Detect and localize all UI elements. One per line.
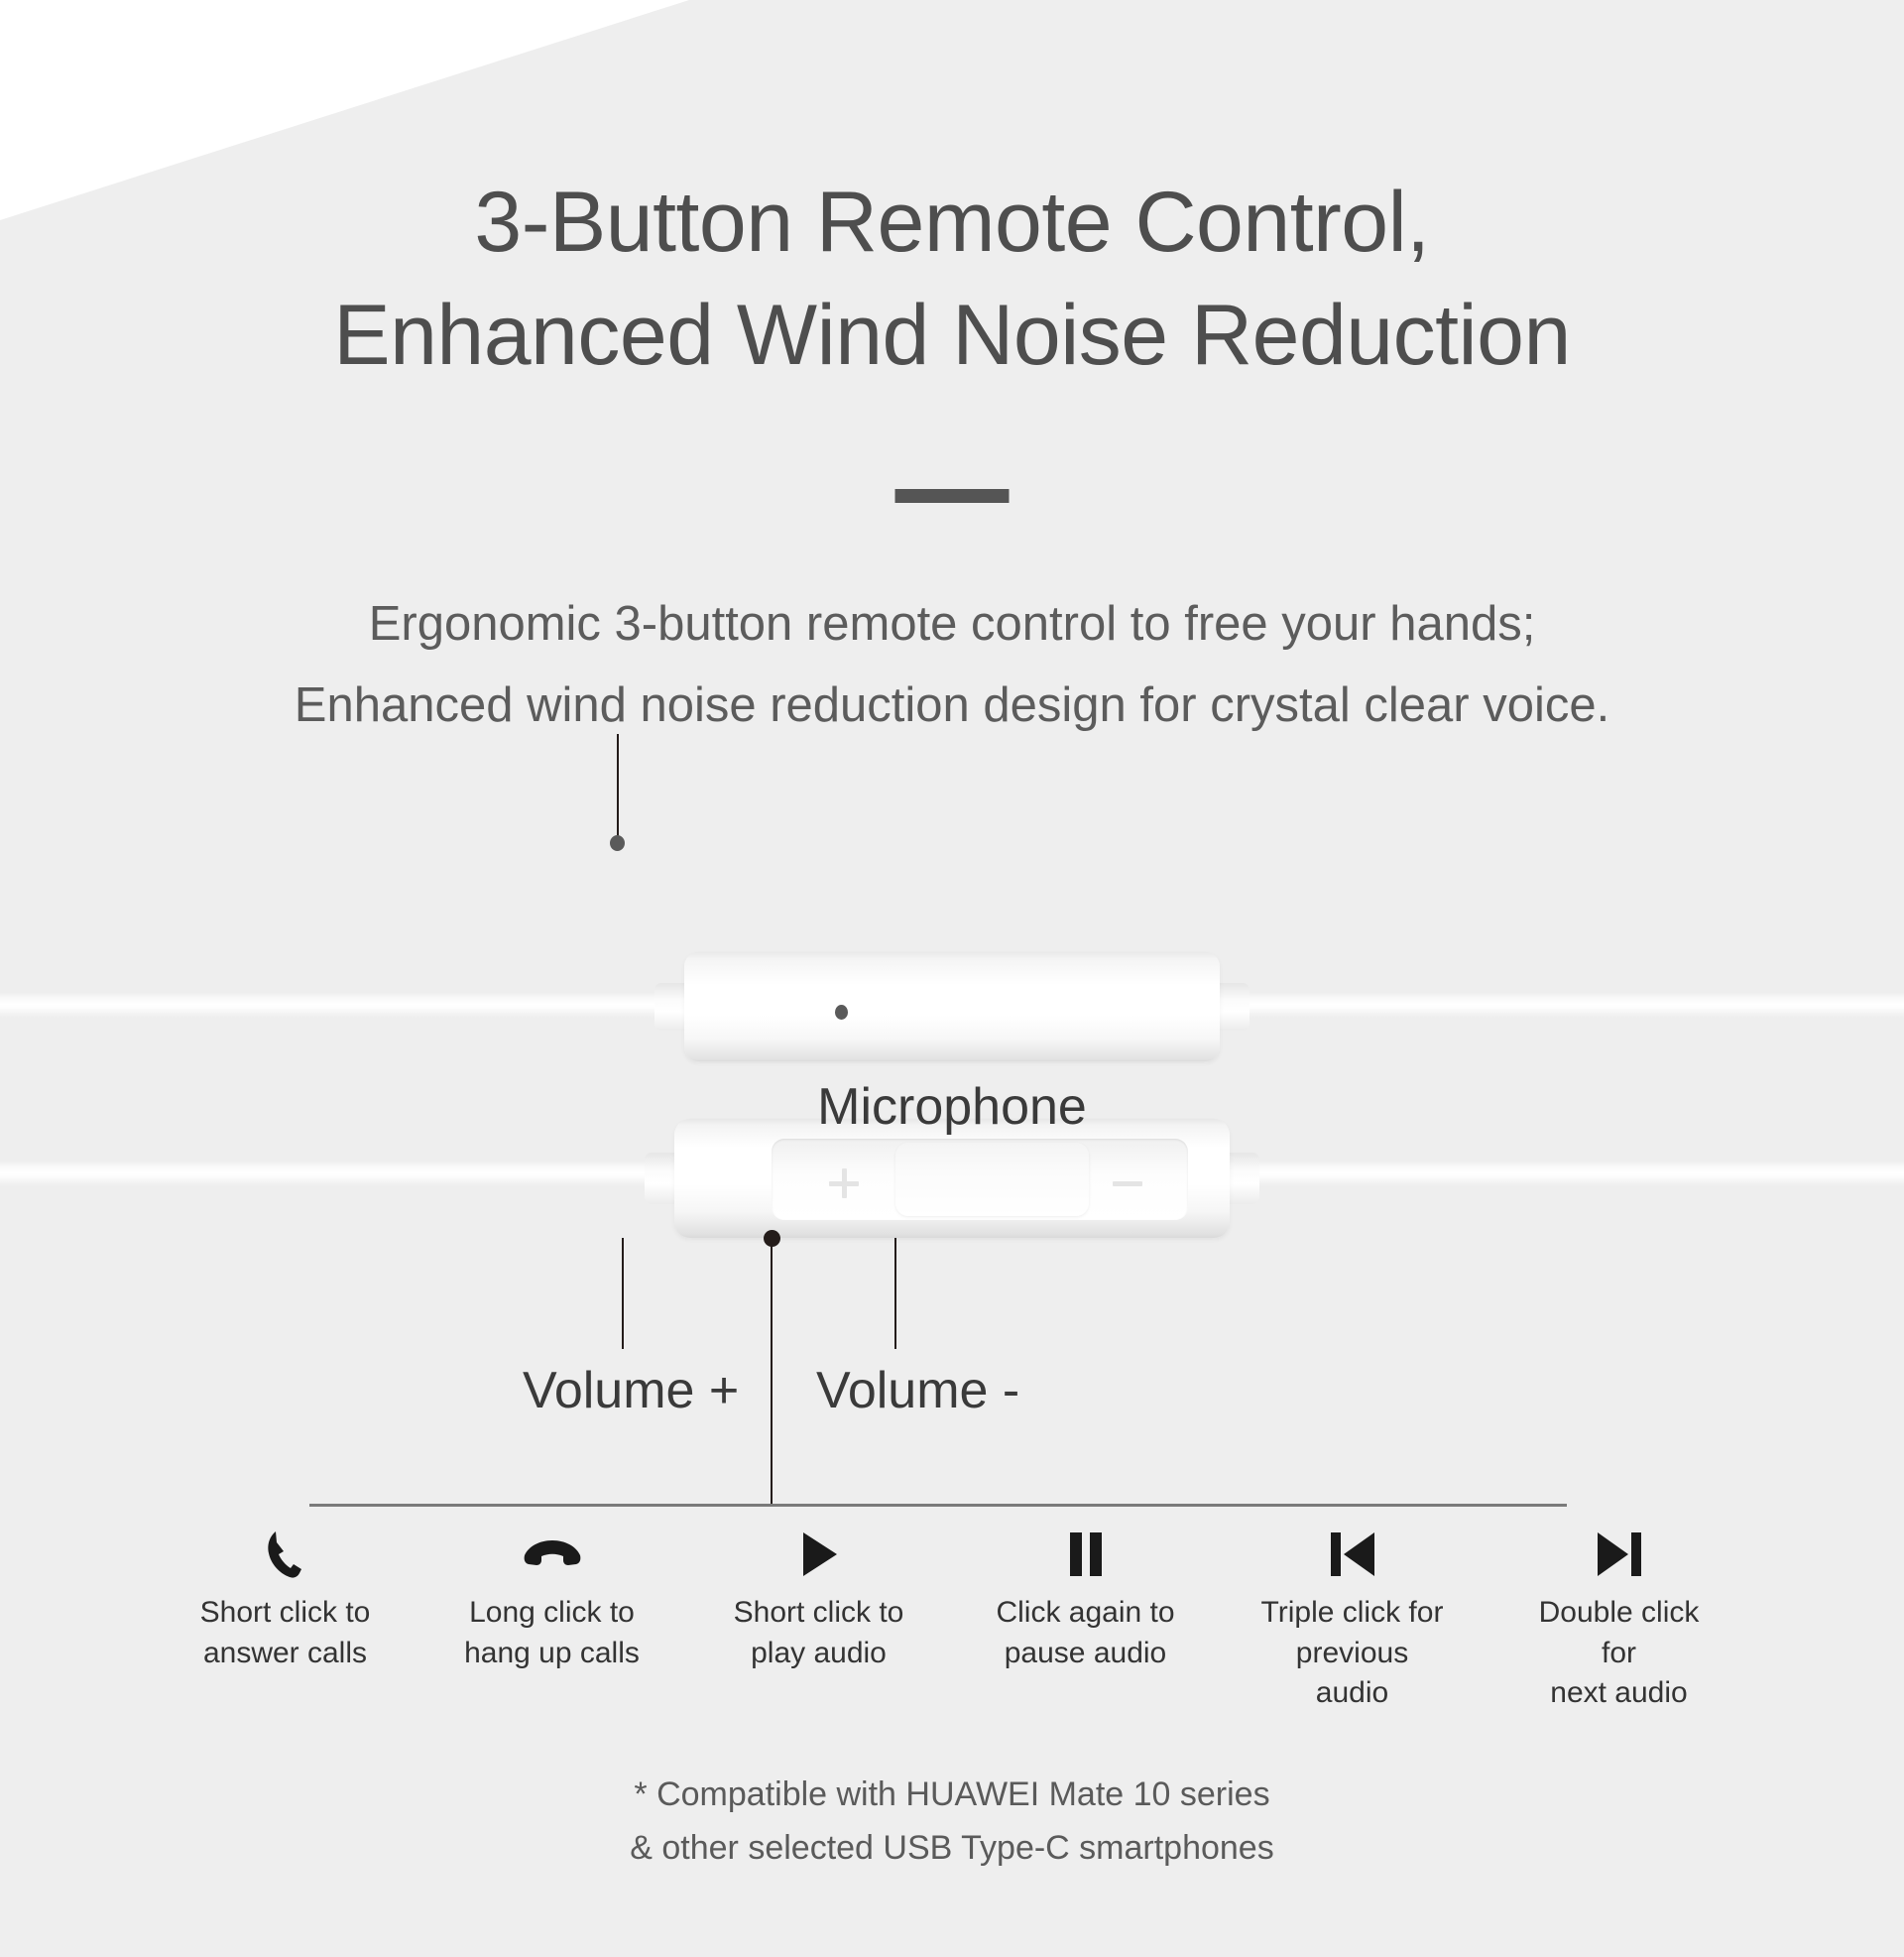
headline-line-2: Enhanced Wind Noise Reduction — [0, 280, 1904, 393]
volume-down-icon — [1113, 1168, 1142, 1198]
action-item-hang-up: Long click to hang up calls — [455, 1524, 649, 1673]
headline-line-1: 3-Button Remote Control, — [0, 167, 1904, 280]
action-item-next-track: Double click for next audio — [1522, 1524, 1716, 1714]
next-track-icon — [1594, 1524, 1645, 1585]
phone-hangup-icon — [524, 1524, 581, 1585]
action-caption: Triple click for previous audio — [1255, 1593, 1449, 1714]
footnote-line-1: * Compatible with HUAWEI Mate 10 series — [0, 1768, 1904, 1821]
subtitle-line-2: Enhanced wind noise reduction design for… — [0, 665, 1904, 746]
remote-button-panel — [772, 1139, 1188, 1220]
play-icon — [799, 1524, 839, 1585]
action-list: Short click to answer calls Long click t… — [188, 1524, 1716, 1714]
phone-answer-icon — [264, 1524, 307, 1585]
volume-down-callout-label: Volume - — [816, 1361, 1019, 1420]
subtitle: Ergonomic 3-button remote control to fre… — [0, 583, 1904, 747]
volume-down-leader-line — [894, 1238, 896, 1349]
volume-up-callout-label: Volume + — [523, 1361, 739, 1420]
multifunction-leader-line — [771, 1238, 773, 1504]
microphone-callout-label: Microphone — [0, 1077, 1904, 1137]
footnote-line-2: & other selected USB Type-C smartphones — [0, 1821, 1904, 1875]
action-item-previous-track: Triple click for previous audio — [1255, 1524, 1449, 1714]
microphone-body — [684, 952, 1220, 1061]
divider-bar — [895, 489, 1010, 503]
volume-up-icon — [829, 1168, 859, 1198]
microphone-leader-dot — [610, 835, 625, 851]
remote-control-module — [645, 1119, 1259, 1238]
multifunction-leader-dot — [764, 1230, 780, 1247]
microphone-module — [654, 952, 1249, 1061]
compatibility-footnote: * Compatible with HUAWEI Mate 10 series … — [0, 1768, 1904, 1876]
action-caption: Click again to pause audio — [996, 1593, 1174, 1673]
microphone-leader-line — [617, 734, 619, 843]
action-caption: Double click for next audio — [1522, 1593, 1716, 1714]
action-caption: Short click to play audio — [734, 1593, 904, 1673]
volume-up-leader-line — [622, 1238, 624, 1349]
action-item-answer-call: Short click to answer calls — [188, 1524, 382, 1673]
previous-track-icon — [1327, 1524, 1378, 1585]
pause-icon — [1067, 1524, 1105, 1585]
section-divider-rule — [309, 1504, 1567, 1507]
microphone-port-icon — [835, 1005, 848, 1020]
action-item-play: Short click to play audio — [722, 1524, 915, 1673]
page-title: 3-Button Remote Control, Enhanced Wind N… — [0, 167, 1904, 392]
subtitle-line-1: Ergonomic 3-button remote control to fre… — [0, 583, 1904, 665]
action-caption: Long click to hang up calls — [464, 1593, 640, 1673]
action-item-pause: Click again to pause audio — [989, 1524, 1182, 1673]
remote-body — [674, 1119, 1230, 1238]
product-feature-page: 3-Button Remote Control, Enhanced Wind N… — [0, 0, 1904, 1957]
multifunction-button — [895, 1143, 1089, 1216]
action-caption: Short click to answer calls — [200, 1593, 371, 1673]
